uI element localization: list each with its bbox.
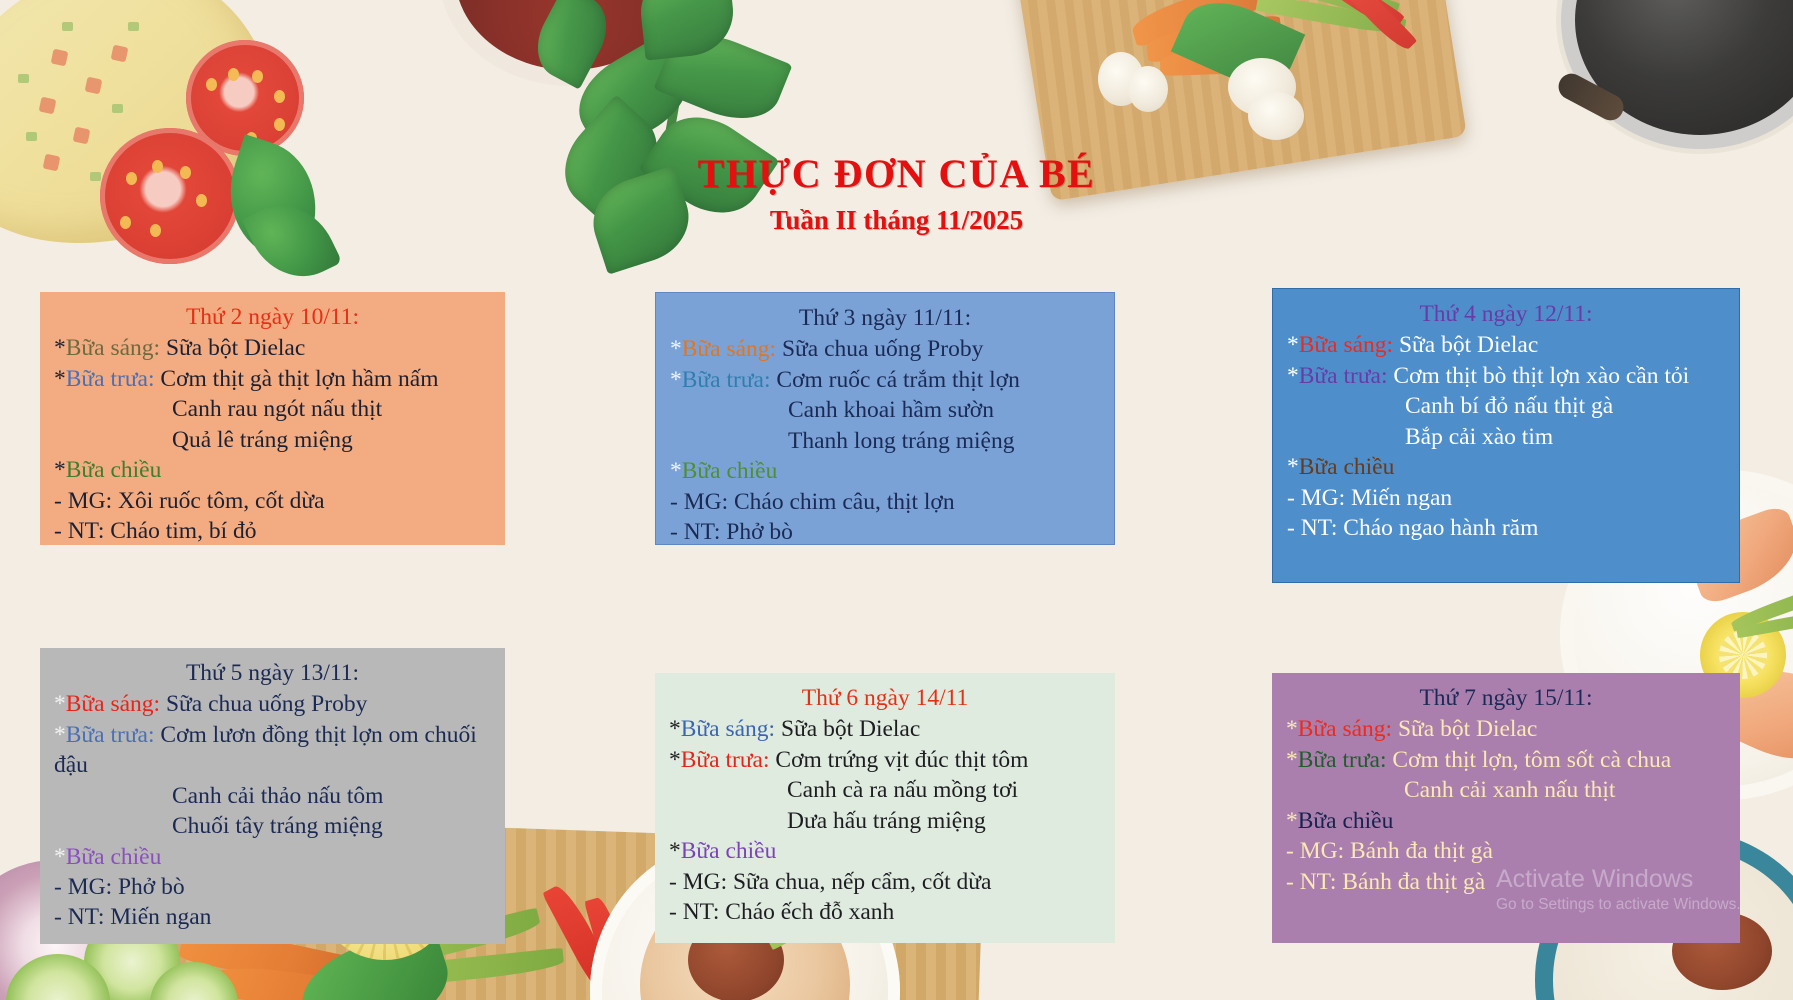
lunch-value-1: Cơm trứng vịt đúc thịt tôm — [775, 747, 1028, 773]
colon: : — [154, 691, 161, 717]
dinner-nt-row: - NT: Miến ngan — [54, 902, 491, 932]
day-card-friday: Thứ 6 ngày 14/11 *Bữa sáng: Sữa bột Diel… — [655, 673, 1115, 943]
breakfast-label: Bữa sáng — [1298, 716, 1386, 742]
lunch-row: Canh cải xanh nấu thịt — [1286, 775, 1726, 805]
dinner-mg-row: - MG: Phở bò — [54, 872, 491, 902]
day-card-saturday: Thứ 7 ngày 15/11: *Bữa sáng: Sữa bột Die… — [1272, 673, 1740, 943]
dinner-nt-row: - NT: Phở bò — [670, 517, 1100, 547]
colon: : — [154, 335, 161, 361]
dinner-nt-row: - NT: Bánh đa thịt gà — [1286, 867, 1726, 897]
bullet-star: * — [54, 366, 66, 392]
colon: : — [763, 747, 770, 773]
colon: : — [1381, 363, 1388, 389]
day-title: Thứ 6 ngày 14/11 — [669, 683, 1101, 713]
dinner-nt-value: Cháo tim, bí đỏ — [110, 518, 256, 544]
bullet-star: * — [1286, 747, 1298, 773]
mg-prefix: - MG: — [669, 869, 727, 895]
breakfast-label: Bữa sáng — [1299, 332, 1387, 358]
dinner-header-row: *Bữa chiều — [1287, 452, 1725, 482]
dinner-mg-row: - MG: Xôi ruốc tôm, cốt dừa — [54, 486, 491, 516]
bullet-star: * — [54, 457, 66, 483]
dinner-header-row: *Bữa chiều — [669, 836, 1101, 866]
dinner-nt-value: Bánh đa thịt gà — [1342, 869, 1485, 895]
lunch-label: Bữa trưa — [66, 722, 148, 748]
lunch-row: Canh khoai hầm sườn — [670, 395, 1100, 425]
dinner-mg-value: Cháo chim câu, thịt lợn — [734, 489, 955, 515]
bullet-star: * — [669, 716, 681, 742]
dinner-nt-row: - NT: Cháo ếch đỗ xanh — [669, 897, 1101, 927]
colon: : — [769, 716, 776, 742]
breakfast-value: Sữa bột Dielac — [1398, 716, 1537, 742]
dinner-nt-value: Cháo ếch đỗ xanh — [725, 899, 894, 925]
lunch-label: Bữa trưa — [66, 366, 148, 392]
dinner-header-row: *Bữa chiều — [54, 455, 491, 485]
lunch-row: *Bữa trưa: Cơm trứng vịt đúc thịt tôm — [669, 745, 1101, 775]
breakfast-value: Sữa chua uống Proby — [782, 336, 983, 362]
breakfast-row: *Bữa sáng: Sữa chua uống Proby — [670, 334, 1100, 364]
colon: : — [1387, 332, 1394, 358]
mg-prefix: - MG: — [54, 874, 112, 900]
colon: : — [1386, 716, 1393, 742]
lunch-value-3: Dưa hấu tráng miệng — [787, 808, 986, 834]
lunch-value-1: Cơm thịt gà thịt lợn hầm nấm — [160, 366, 438, 392]
dinner-label: Bữa chiều — [66, 844, 162, 870]
dinner-mg-row: - MG: Cháo chim câu, thịt lợn — [670, 487, 1100, 517]
dinner-header-row: *Bữa chiều — [54, 842, 491, 872]
menu-poster: THỰC ĐƠN CỦA BÉ Tuần II tháng 11/2025 Th… — [0, 0, 1793, 1000]
bullet-star: * — [1287, 363, 1299, 389]
colon: : — [764, 367, 771, 393]
lunch-value-2: Canh cải thảo nấu tôm — [172, 783, 383, 809]
bullet-star: * — [54, 722, 66, 748]
dinner-mg-row: - MG: Sữa chua, nếp cẩm, cốt dừa — [669, 867, 1101, 897]
lunch-value-2: Canh khoai hầm sườn — [788, 397, 994, 423]
breakfast-label: Bữa sáng — [682, 336, 770, 362]
bullet-star: * — [1286, 716, 1298, 742]
day-card-grid: Thứ 2 ngày 10/11: *Bữa sáng: Sữa bột Die… — [0, 0, 1793, 1000]
bullet-star: * — [1286, 808, 1298, 834]
day-title: Thứ 7 ngày 15/11: — [1286, 683, 1726, 713]
dinner-nt-value: Cháo ngao hành răm — [1343, 515, 1538, 541]
breakfast-row: *Bữa sáng: Sữa bột Dielac — [669, 714, 1101, 744]
bullet-star: * — [54, 844, 66, 870]
dinner-label: Bữa chiều — [1299, 454, 1395, 480]
dinner-nt-value: Miến ngan — [110, 904, 211, 930]
lunch-label: Bữa trưa — [1299, 363, 1381, 389]
lunch-label: Bữa trưa — [681, 747, 763, 773]
nt-prefix: - NT: — [1287, 515, 1337, 541]
breakfast-row: *Bữa sáng: Sữa bột Dielac — [1286, 714, 1726, 744]
lunch-value-2: Canh cà ra nấu mồng tơi — [787, 777, 1018, 803]
breakfast-label: Bữa sáng — [66, 335, 154, 361]
dinner-label: Bữa chiều — [1298, 808, 1394, 834]
lunch-value-3: Quả lê tráng miệng — [172, 427, 353, 453]
dinner-label: Bữa chiều — [66, 457, 162, 483]
lunch-row: Thanh long tráng miệng — [670, 426, 1100, 456]
lunch-row: *Bữa trưa: Cơm ruốc cá trắm thịt lợn — [670, 365, 1100, 395]
dinner-nt-row: - NT: Cháo ngao hành răm — [1287, 513, 1725, 543]
day-card-tuesday: Thứ 3 ngày 11/11: *Bữa sáng: Sữa chua uố… — [655, 292, 1115, 545]
lunch-label: Bữa trưa — [1298, 747, 1380, 773]
mg-prefix: - MG: — [54, 488, 112, 514]
breakfast-row: *Bữa sáng: Sữa bột Dielac — [1287, 330, 1725, 360]
bullet-star: * — [670, 367, 682, 393]
dinner-mg-row: - MG: Miến ngan — [1287, 483, 1725, 513]
nt-prefix: - NT: — [670, 519, 720, 545]
colon: : — [1380, 747, 1387, 773]
breakfast-value: Sữa bột Dielac — [781, 716, 920, 742]
dinner-label: Bữa chiều — [682, 458, 778, 484]
lunch-value-1: Cơm thịt bò thịt lợn xào cần tỏi — [1393, 363, 1689, 389]
breakfast-value: Sữa bột Dielac — [1399, 332, 1538, 358]
lunch-row: Canh cà ra nấu mồng tơi — [669, 775, 1101, 805]
dinner-header-row: *Bữa chiều — [1286, 806, 1726, 836]
lunch-value-1: Cơm ruốc cá trắm thịt lợn — [776, 367, 1019, 393]
bullet-star: * — [669, 838, 681, 864]
lunch-row: *Bữa trưa: Cơm thịt gà thịt lợn hầm nấm — [54, 364, 491, 394]
lunch-row: Quả lê tráng miệng — [54, 425, 491, 455]
breakfast-value: Sữa chua uống Proby — [166, 691, 367, 717]
bullet-star: * — [670, 336, 682, 362]
lunch-value-1: Cơm thịt lợn, tôm sốt cà chua — [1392, 747, 1671, 773]
dinner-mg-value: Phở bò — [118, 874, 185, 900]
dinner-mg-value: Sữa chua, nếp cẩm, cốt dừa — [733, 869, 991, 895]
lunch-value-2: Canh rau ngót nấu thịt — [172, 396, 382, 422]
lunch-value-2: Canh cải xanh nấu thịt — [1404, 777, 1615, 803]
dinner-label: Bữa chiều — [681, 838, 777, 864]
colon: : — [148, 366, 155, 392]
day-title: Thứ 4 ngày 12/11: — [1287, 299, 1725, 329]
lunch-row: *Bữa trưa: Cơm lươn đồng thịt lợn om chu… — [54, 720, 491, 781]
nt-prefix: - NT: — [669, 899, 719, 925]
day-title: Thứ 5 ngày 13/11: — [54, 658, 491, 688]
lunch-row: *Bữa trưa: Cơm thịt bò thịt lợn xào cần … — [1287, 361, 1725, 391]
mg-prefix: - MG: — [1287, 485, 1345, 511]
lunch-value-3: Chuối tây tráng miệng — [172, 813, 383, 839]
colon: : — [148, 722, 155, 748]
lunch-row: Canh rau ngót nấu thịt — [54, 394, 491, 424]
day-title: Thứ 3 ngày 11/11: — [670, 303, 1100, 333]
lunch-row: Chuối tây tráng miệng — [54, 811, 491, 841]
colon: : — [770, 336, 777, 362]
day-title: Thứ 2 ngày 10/11: — [54, 302, 491, 332]
breakfast-label: Bữa sáng — [681, 716, 769, 742]
dinner-nt-row: - NT: Cháo tim, bí đỏ — [54, 516, 491, 546]
dinner-mg-row: - MG: Bánh đa thịt gà — [1286, 836, 1726, 866]
lunch-value-2: Canh bí đỏ nấu thịt gà — [1405, 393, 1613, 419]
lunch-label: Bữa trưa — [682, 367, 764, 393]
day-card-thursday: Thứ 5 ngày 13/11: *Bữa sáng: Sữa chua uố… — [40, 648, 505, 944]
lunch-row: Dưa hấu tráng miệng — [669, 806, 1101, 836]
dinner-header-row: *Bữa chiều — [670, 456, 1100, 486]
dinner-nt-value: Phở bò — [726, 519, 793, 545]
lunch-row: Canh cải thảo nấu tôm — [54, 781, 491, 811]
bullet-star: * — [54, 691, 66, 717]
lunch-value-3: Thanh long tráng miệng — [788, 428, 1014, 454]
nt-prefix: - NT: — [54, 904, 104, 930]
bullet-star: * — [54, 335, 66, 361]
day-card-wednesday: Thứ 4 ngày 12/11: *Bữa sáng: Sữa bột Die… — [1272, 288, 1740, 583]
breakfast-value: Sữa bột Dielac — [166, 335, 305, 361]
lunch-row: *Bữa trưa: Cơm thịt lợn, tôm sốt cà chua — [1286, 745, 1726, 775]
lunch-row: Canh bí đỏ nấu thịt gà — [1287, 391, 1725, 421]
bullet-star: * — [1287, 454, 1299, 480]
breakfast-row: *Bữa sáng: Sữa bột Dielac — [54, 333, 491, 363]
mg-prefix: - MG: — [1286, 838, 1344, 864]
bullet-star: * — [669, 747, 681, 773]
bullet-star: * — [1287, 332, 1299, 358]
bullet-star: * — [670, 458, 682, 484]
day-card-monday: Thứ 2 ngày 10/11: *Bữa sáng: Sữa bột Die… — [40, 292, 505, 545]
nt-prefix: - NT: — [54, 518, 104, 544]
breakfast-row: *Bữa sáng: Sữa chua uống Proby — [54, 689, 491, 719]
dinner-mg-value: Miến ngan — [1351, 485, 1452, 511]
mg-prefix: - MG: — [670, 489, 728, 515]
dinner-mg-value: Bánh đa thịt gà — [1350, 838, 1493, 864]
lunch-row: Bắp cải xào tim — [1287, 422, 1725, 452]
lunch-value-3: Bắp cải xào tim — [1405, 424, 1553, 450]
breakfast-label: Bữa sáng — [66, 691, 154, 717]
nt-prefix: - NT: — [1286, 869, 1336, 895]
dinner-mg-value: Xôi ruốc tôm, cốt dừa — [118, 488, 325, 514]
